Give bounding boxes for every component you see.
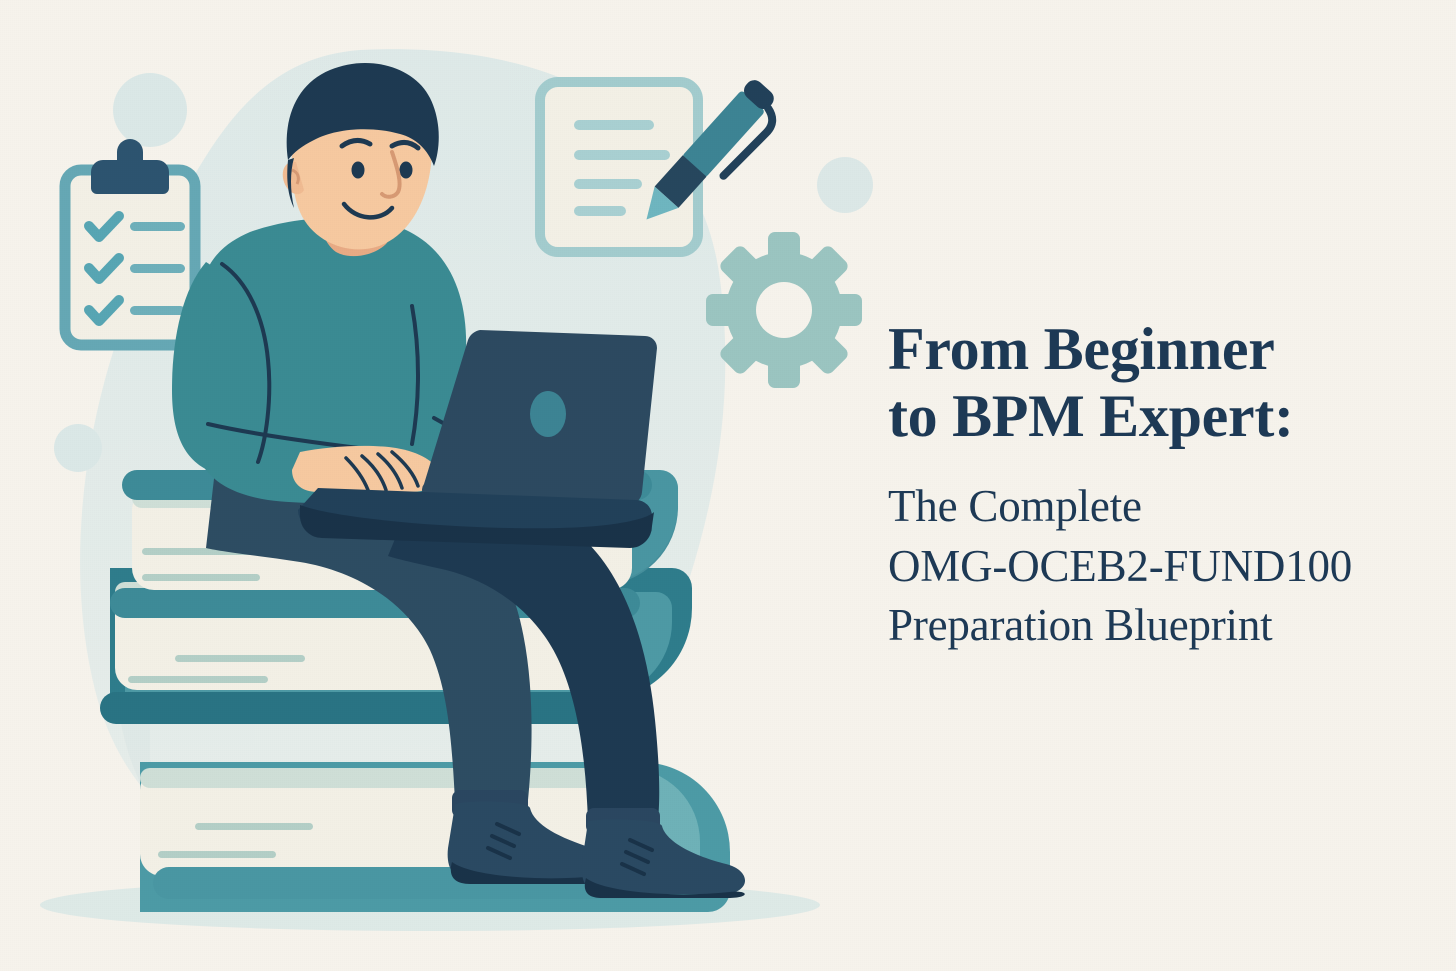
clipboard-line-3 <box>130 306 185 315</box>
clipboard-line-2 <box>130 264 185 273</box>
document-line-4 <box>574 206 626 216</box>
document-line-1 <box>574 120 654 130</box>
eye-right <box>400 162 413 179</box>
laptop-logo-icon <box>530 391 566 437</box>
clipboard-clip <box>91 160 169 194</box>
clipboard-icon <box>65 139 195 345</box>
decor-circle-mid-left <box>54 424 102 472</box>
page-subtitle: The Complete OMG-OCEB2-FUND100 Preparati… <box>888 477 1446 655</box>
book-bottom-line-1 <box>158 851 276 858</box>
decor-circle-top-right <box>817 157 873 213</box>
document-line-2 <box>574 150 670 160</box>
clipboard-board <box>65 170 195 345</box>
illustration-area <box>0 0 880 971</box>
decor-circle-top-left <box>113 73 187 147</box>
poster-canvas: From Beginner to BPM Expert: The Complet… <box>0 0 1456 971</box>
book-top-line-2 <box>142 574 260 581</box>
book-bottom-line-2 <box>195 823 313 830</box>
document-line-3 <box>574 179 642 189</box>
book-middle-line-1 <box>175 655 305 662</box>
book-middle-line-2 <box>128 676 268 683</box>
book-middle-spine <box>100 692 640 724</box>
eye-left <box>352 162 365 179</box>
clipboard-line-1 <box>130 222 185 231</box>
book-bottom-pages-top <box>140 768 650 788</box>
page-title: From Beginner to BPM Expert: <box>888 316 1446 452</box>
text-panel: From Beginner to BPM Expert: The Complet… <box>886 0 1446 971</box>
